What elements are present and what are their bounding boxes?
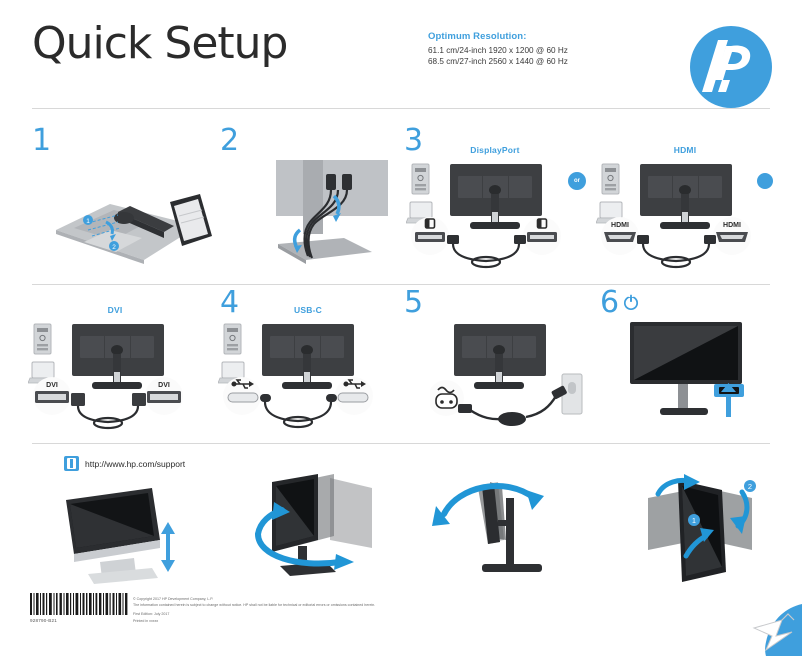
svg-text:2: 2: [112, 244, 116, 251]
step1-illustration: 1 2: [48, 168, 218, 268]
panel-label-dvi: DVI: [52, 305, 178, 315]
barcode: [30, 593, 130, 615]
swivel-illustration: [222, 470, 392, 588]
svg-text:1: 1: [692, 516, 696, 525]
svg-text:HDMI: HDMI: [611, 222, 629, 229]
panel-label-hdmi: HDMI: [620, 145, 750, 155]
step-number-5: 5: [404, 288, 423, 318]
svg-text:1: 1: [86, 218, 90, 225]
step-number-3: 3: [404, 126, 423, 156]
hdmi-diagram: HDMI HDMI: [596, 160, 761, 275]
resolution-line-27inch: 68.5 cm/27-inch 2560 x 1440 @ 60 Hz: [428, 56, 568, 67]
tilt-illustration: [428, 468, 578, 588]
height-adjust-illustration: [48, 478, 188, 586]
legal-disclaimer: The information contained herein is subj…: [133, 602, 433, 608]
quick-setup-poster: Quick Setup Optimum Resolution: 61.1 cm/…: [0, 0, 802, 656]
support-link-row[interactable]: http://www.hp.com/support: [64, 456, 185, 471]
legal-printed-in: Printed in xxxxx: [133, 618, 433, 624]
step-number-1: 1: [32, 126, 51, 156]
power-icon: [622, 293, 640, 311]
or-badge-wrap: [757, 173, 773, 189]
legal-block: © Copyright 2017 HP Development Company,…: [133, 596, 433, 624]
divider-header: [32, 108, 770, 109]
step2-illustration: [248, 160, 398, 270]
part-number: 928790-B21: [30, 618, 57, 623]
resolution-line-24inch: 61.1 cm/24-inch 1920 x 1200 @ 60 Hz: [428, 45, 568, 56]
panel-label-usbc: USB-C: [245, 305, 371, 315]
displayport-diagram: [406, 160, 571, 275]
usbc-diagram: [218, 320, 383, 435]
svg-text:DVI: DVI: [158, 382, 170, 389]
pivot-illustration: 1 2: [630, 468, 770, 588]
hp-corner-watermark: [736, 598, 802, 656]
svg-text:HDMI: HDMI: [723, 222, 741, 229]
dvi-diagram: DVI DVI: [28, 320, 193, 435]
step-number-6: 6: [600, 288, 619, 318]
support-icon-spine: [70, 459, 73, 468]
svg-text:DVI: DVI: [46, 382, 58, 389]
poster-header: Quick Setup Optimum Resolution: 61.1 cm/…: [0, 0, 802, 108]
divider-row2: [32, 443, 770, 444]
support-book-icon: [64, 456, 79, 471]
step-number-4: 4: [220, 288, 239, 318]
svg-text:2: 2: [748, 482, 752, 491]
panel-label-displayport: DisplayPort: [430, 145, 560, 155]
hp-logo: [690, 26, 772, 108]
step-number-2: 2: [220, 126, 239, 156]
power-on-diagram: [620, 318, 770, 428]
power-connect-diagram: [430, 320, 595, 435]
optimum-resolution-block: Optimum Resolution: 61.1 cm/24-inch 1920…: [428, 31, 568, 67]
page-title: Quick Setup: [32, 18, 287, 69]
optimum-resolution-title: Optimum Resolution:: [428, 31, 568, 42]
support-url-text[interactable]: http://www.hp.com/support: [85, 459, 185, 469]
hp-logo-wordmark: [690, 26, 772, 108]
or-badge-dp-hdmi: or: [568, 172, 586, 190]
divider-row1: [32, 284, 770, 285]
